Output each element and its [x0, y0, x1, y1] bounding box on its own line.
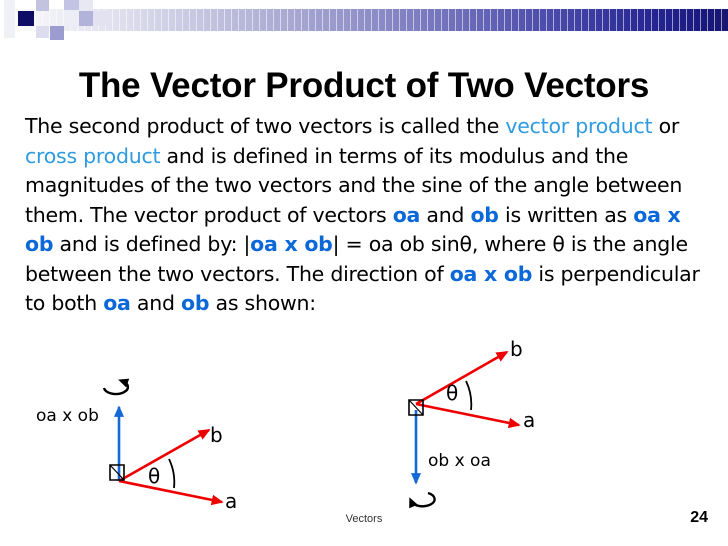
left-vector-diagram	[104, 381, 222, 502]
diagram-area	[0, 330, 728, 520]
left-angle-label: θ	[148, 464, 160, 488]
body-segment-17: ob	[181, 291, 209, 315]
header-block-mid-5	[64, 0, 79, 10]
right-vector-a-label: a	[523, 408, 535, 432]
body-segment-3: cross product	[25, 144, 160, 168]
body-segment-16: and	[131, 291, 181, 315]
left-vector-a-label: a	[225, 489, 237, 513]
page-title: The Vector Product of Two Vectors	[0, 65, 728, 107]
right-normal-label: ob x oa	[428, 451, 491, 471]
page-number: 24	[690, 509, 708, 527]
footer-section-label: Vectors	[0, 513, 728, 525]
body-segment-8: is written as	[499, 203, 634, 227]
body-segment-18: as shown:	[209, 291, 316, 315]
body-segment-13: oa x ob	[450, 262, 532, 286]
vector-diagrams-svg	[0, 330, 728, 520]
header-block-navy-accent	[18, 11, 34, 26]
left-normal-label: oa x ob	[36, 406, 99, 426]
body-segment-11: oa x ob	[250, 232, 332, 256]
header-block-mid-2	[36, 26, 49, 38]
left-rotation-arrow-icon	[104, 381, 128, 394]
header-block-mid-4	[50, 26, 64, 40]
right-rotation-arrow-icon	[411, 493, 435, 506]
header-block-white-1	[50, 0, 64, 9]
body-segment-7: ob	[470, 203, 498, 227]
body-segment-10: and is defined by: |	[53, 232, 250, 256]
body-segment-15: oa	[103, 291, 130, 315]
header-block-mid-7	[79, 11, 93, 26]
body-segment-6: and	[420, 203, 470, 227]
body-segment-5: oa	[393, 203, 420, 227]
body-segment-1: vector product	[505, 114, 652, 138]
body-segment-0: The second product of two vectors is cal…	[25, 114, 505, 138]
right-angle-label: θ	[446, 381, 458, 405]
header-block-mid-8	[79, 0, 93, 10]
right-angle-arc	[466, 381, 471, 410]
left-vector-b-arrow	[119, 430, 209, 481]
right-vector-a-arrow	[416, 404, 519, 425]
right-vector-diagram	[409, 352, 519, 506]
header-block-mid-6	[64, 11, 79, 26]
right-vector-b-label: b	[510, 337, 523, 361]
left-vector-a-arrow	[119, 481, 222, 502]
header-block-pale-1	[4, 0, 15, 38]
header-gradient-bar	[0, 9, 728, 31]
body-paragraph: The second product of two vectors is cal…	[25, 112, 711, 319]
header-block-mid-1	[36, 0, 49, 11]
header-block-mid-9	[93, 11, 109, 26]
right-vector-b-arrow	[416, 352, 507, 404]
left-right-angle-tick	[110, 465, 124, 480]
body-segment-2: or	[652, 114, 679, 138]
left-angle-arc	[169, 459, 174, 488]
slide-header-band	[0, 0, 728, 38]
left-vector-b-label: b	[210, 423, 223, 447]
